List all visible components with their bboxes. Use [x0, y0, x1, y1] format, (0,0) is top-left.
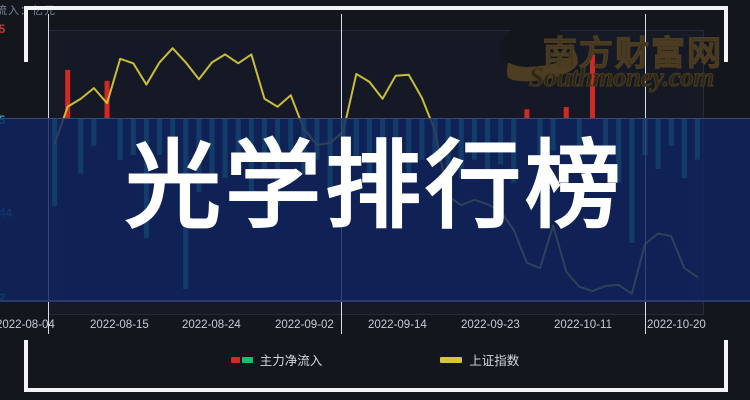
x-axis-tick-label: 2022-09-02 [275, 319, 334, 331]
legend-marker-icon [231, 356, 253, 364]
frame-edge-bottom [24, 388, 728, 392]
frame-edge-top [24, 6, 728, 10]
legend-marker-icon [440, 356, 462, 364]
frame-edge-right-bottom [724, 340, 728, 392]
page-title: 光学排行榜 [0, 138, 750, 234]
y-axis-label: 25 [0, 113, 5, 127]
x-axis-tick-label: 2022-08-24 [182, 319, 241, 331]
x-axis-tick-label: 2022-09-23 [461, 319, 520, 331]
chart-bar [564, 107, 569, 118]
screenshot-root: 流入：亿元 9502564462 南方财富网 Southmoney.com 光学… [0, 0, 750, 400]
x-axis-tick-label: 2022-10-11 [554, 319, 612, 331]
chart-bar [524, 109, 529, 118]
frame-edge-right-top [724, 6, 728, 62]
y-axis-label: 95 [0, 22, 5, 36]
baseline-gridline [0, 300, 750, 302]
x-axis-tick-label: 2022-08-04 [0, 319, 55, 331]
y-axis-label: 62 [0, 291, 5, 305]
x-axis-tick-label: 2022-09-14 [368, 319, 427, 331]
frame-edge-left-bottom [24, 340, 28, 392]
legend-item[interactable]: 上证指数 [440, 350, 519, 369]
frame-edge-left-top [24, 6, 28, 62]
zero-gridline [0, 118, 750, 119]
chart-bar [590, 55, 595, 118]
legend-item[interactable]: 主力净流入 [231, 350, 323, 369]
x-axis-tick-label: 2022-08-15 [90, 319, 149, 331]
x-axis-tick-label: 2022-10-20 [647, 319, 706, 331]
legend-label: 上证指数 [469, 350, 519, 369]
chart-legend: 主力净流入上证指数 [0, 350, 750, 369]
legend-label: 主力净流入 [260, 350, 323, 369]
